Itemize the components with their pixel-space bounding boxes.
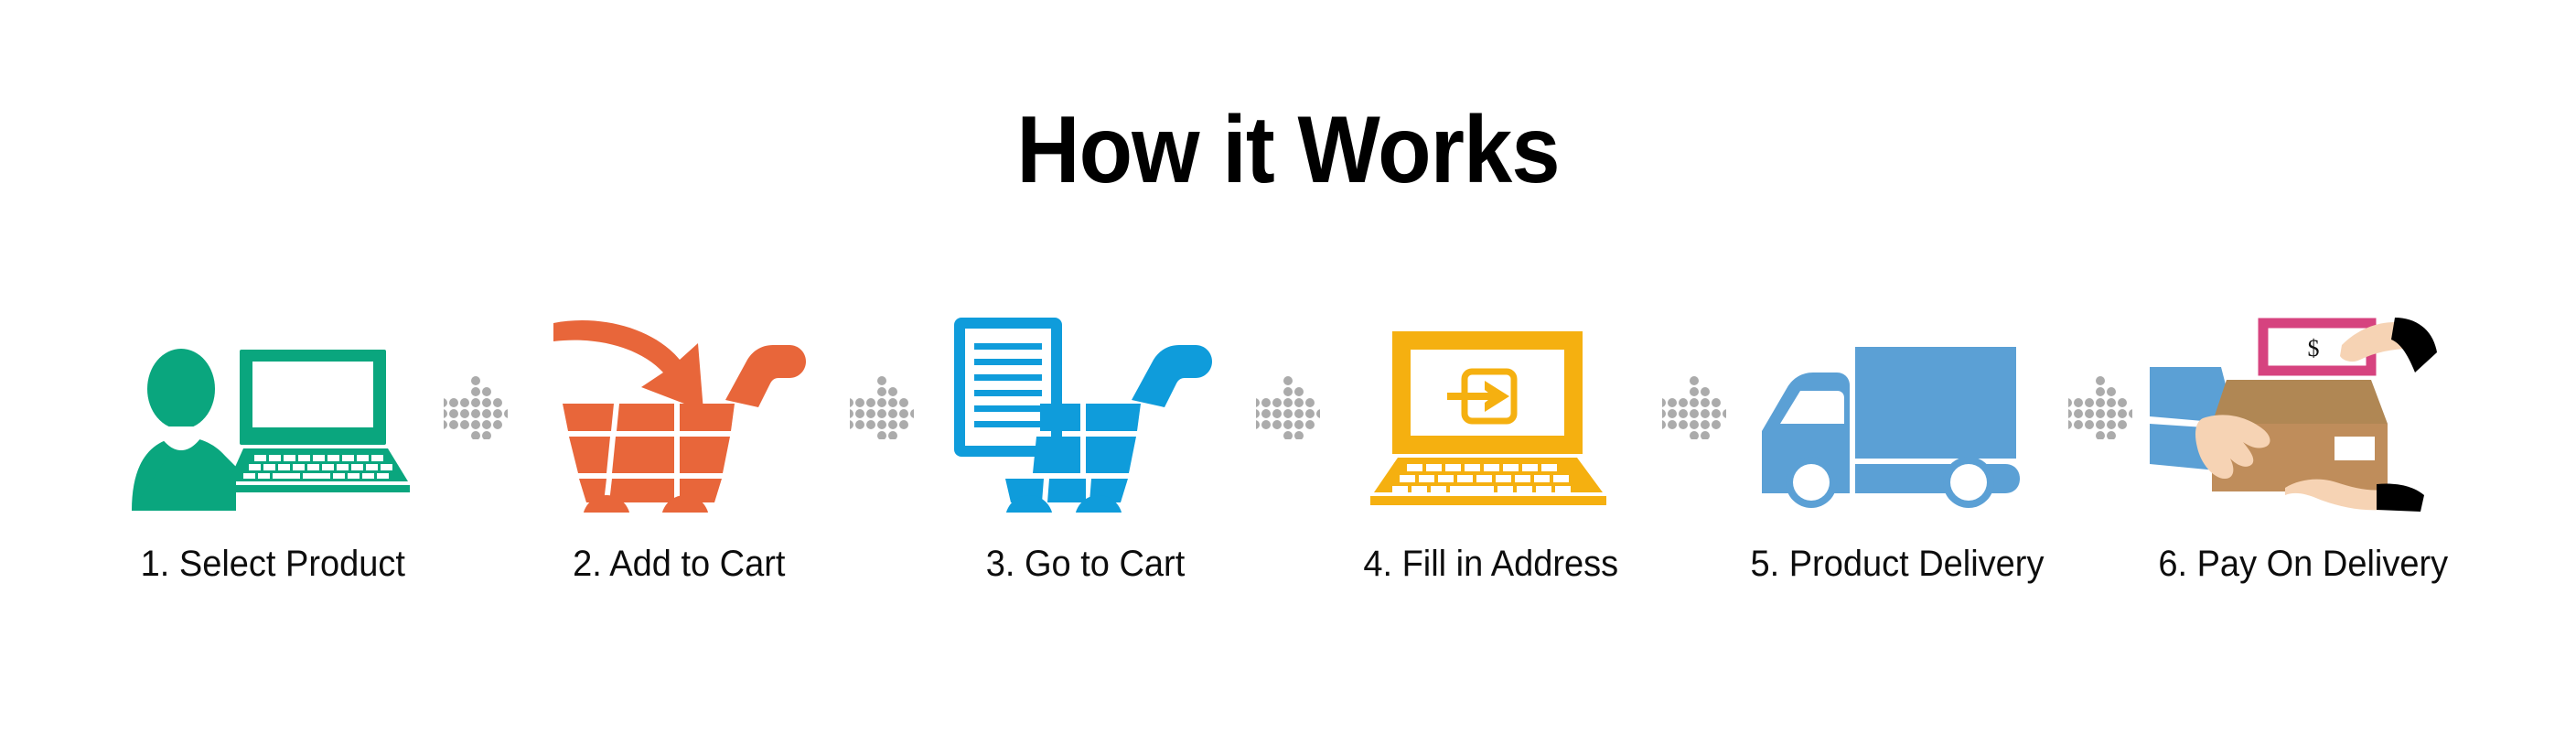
step-1-label: 1. Select Product — [140, 544, 404, 585]
step-4-label: 4. Fill in Address — [1364, 544, 1619, 585]
separator-4 — [1658, 302, 1730, 513]
step-3-icon-wrap — [918, 302, 1252, 513]
step-5-product-delivery[interactable]: 5. Product Delivery — [1730, 302, 2065, 585]
dotted-arrow-right-icon — [850, 375, 914, 439]
delivery-truck-icon — [1760, 343, 2034, 513]
cart-with-down-arrow-icon — [546, 316, 811, 513]
step-3-go-to-cart[interactable]: 3. Go to Cart — [918, 302, 1252, 585]
step-6-label: 6. Pay On Delivery — [2159, 544, 2449, 585]
step-4-icon-wrap — [1324, 302, 1658, 513]
person-with-laptop-icon — [126, 348, 419, 513]
steps-row: 1. Select Product — [0, 302, 2576, 686]
laptop-with-login-arrow-icon — [1354, 329, 1628, 513]
step-1-select-product[interactable]: 1. Select Product — [105, 302, 440, 585]
separator-2 — [846, 302, 918, 513]
step-4-fill-in-address[interactable]: 4. Fill in Address — [1324, 302, 1658, 585]
currency-symbol: $ — [2308, 335, 2320, 362]
dotted-arrow-right-icon — [2068, 375, 2132, 439]
document-with-cart-icon — [952, 316, 1218, 513]
step-5-label: 5. Product Delivery — [1750, 544, 2044, 585]
separator-5 — [2065, 302, 2136, 513]
hands-exchange-box-and-money-icon: $ — [2148, 316, 2459, 513]
step-5-icon-wrap — [1730, 302, 2065, 513]
step-6-pay-on-delivery[interactable]: $ — [2136, 302, 2471, 585]
step-6-icon-wrap: $ — [2136, 302, 2471, 513]
step-3-label: 3. Go to Cart — [985, 544, 1185, 585]
shipping-label-icon — [2334, 437, 2375, 460]
step-2-icon-wrap — [511, 302, 846, 513]
dotted-arrow-right-icon — [444, 375, 508, 439]
separator-1 — [440, 302, 511, 513]
step-1-icon-wrap — [105, 302, 440, 513]
dotted-arrow-right-icon — [1662, 375, 1726, 439]
dotted-arrow-right-icon — [1256, 375, 1320, 439]
page-title: How it Works — [103, 101, 2474, 200]
infographic-page: How it Works — [0, 0, 2576, 745]
step-2-label: 2. Add to Cart — [573, 544, 785, 585]
step-2-add-to-cart[interactable]: 2. Add to Cart — [511, 302, 846, 585]
separator-3 — [1252, 302, 1324, 513]
